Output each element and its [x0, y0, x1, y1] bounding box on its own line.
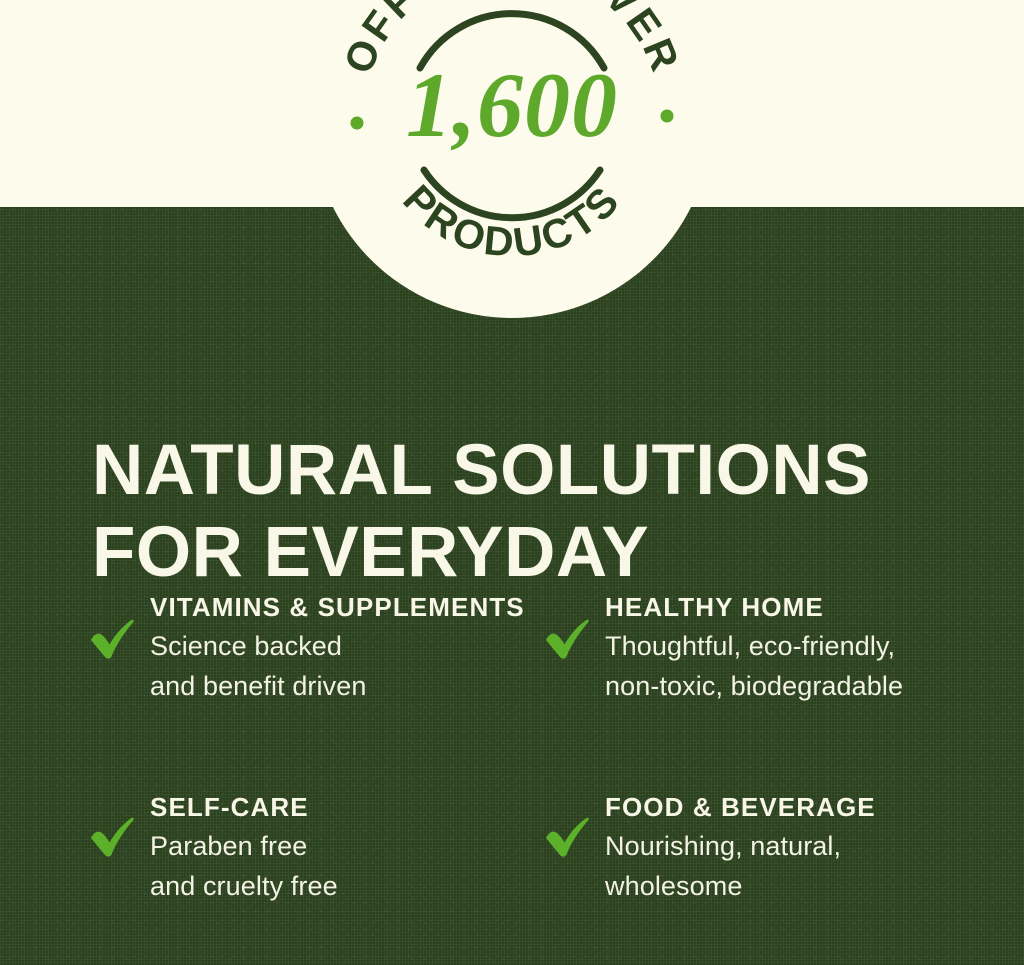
feature-item-healthy-home: HEALTHY HOME Thoughtful, eco-friendly, n…: [543, 586, 998, 786]
feature-text: FOOD & BEVERAGE Nourishing, natural, who…: [605, 790, 998, 906]
headline-line-2: FOR EVERYDAY: [92, 512, 972, 594]
badge-dot-left-icon: [351, 117, 364, 130]
page-title: NATURAL SOLUTIONS FOR EVERYDAY: [92, 430, 972, 594]
feature-description: Nourishing, natural, wholesome: [605, 826, 998, 906]
badge-dot-right-icon: [661, 110, 674, 123]
feature-title: VITAMINS & SUPPLEMENTS: [150, 590, 543, 624]
badge-count: 1,600: [406, 54, 618, 156]
check-icon: [543, 590, 605, 660]
feature-title: SELF-CARE: [150, 790, 543, 824]
feature-description-line-2: and cruelty free: [150, 871, 338, 901]
feature-text: VITAMINS & SUPPLEMENTS Science backed an…: [150, 590, 543, 706]
feature-item-vitamins-supplements: VITAMINS & SUPPLEMENTS Science backed an…: [88, 586, 543, 786]
feature-description-line-1: Nourishing, natural,: [605, 831, 841, 861]
feature-description: Science backed and benefit driven: [150, 626, 543, 706]
feature-description: Paraben free and cruelty free: [150, 826, 543, 906]
feature-title: FOOD & BEVERAGE: [605, 790, 998, 824]
feature-text: HEALTHY HOME Thoughtful, eco-friendly, n…: [605, 590, 998, 706]
feature-item-self-care: SELF-CARE Paraben free and cruelty free: [88, 786, 543, 951]
feature-description-line-2: and benefit driven: [150, 671, 366, 701]
feature-description-line-1: Science backed: [150, 631, 342, 661]
headline-line-1: NATURAL SOLUTIONS: [92, 430, 972, 512]
check-icon: [543, 790, 605, 858]
feature-text: SELF-CARE Paraben free and cruelty free: [150, 790, 543, 906]
feature-description-line-1: Thoughtful, eco-friendly,: [605, 631, 895, 661]
feature-description: Thoughtful, eco-friendly, non-toxic, bio…: [605, 626, 998, 706]
offering-over-badge: OFFERING OVER PRODUCTS 1,600: [312, 0, 712, 318]
check-icon: [88, 590, 150, 660]
feature-item-food-beverage: FOOD & BEVERAGE Nourishing, natural, who…: [543, 786, 998, 951]
feature-description-line-2: non-toxic, biodegradable: [605, 671, 903, 701]
check-icon: [88, 790, 150, 858]
feature-description-line-1: Paraben free: [150, 831, 307, 861]
feature-title: HEALTHY HOME: [605, 590, 998, 624]
promo-banner: OFFERING OVER PRODUCTS 1,600 NATURAL SOL…: [0, 0, 1024, 965]
feature-list: VITAMINS & SUPPLEMENTS Science backed an…: [0, 586, 1024, 951]
feature-description-line-2: wholesome: [605, 871, 742, 901]
